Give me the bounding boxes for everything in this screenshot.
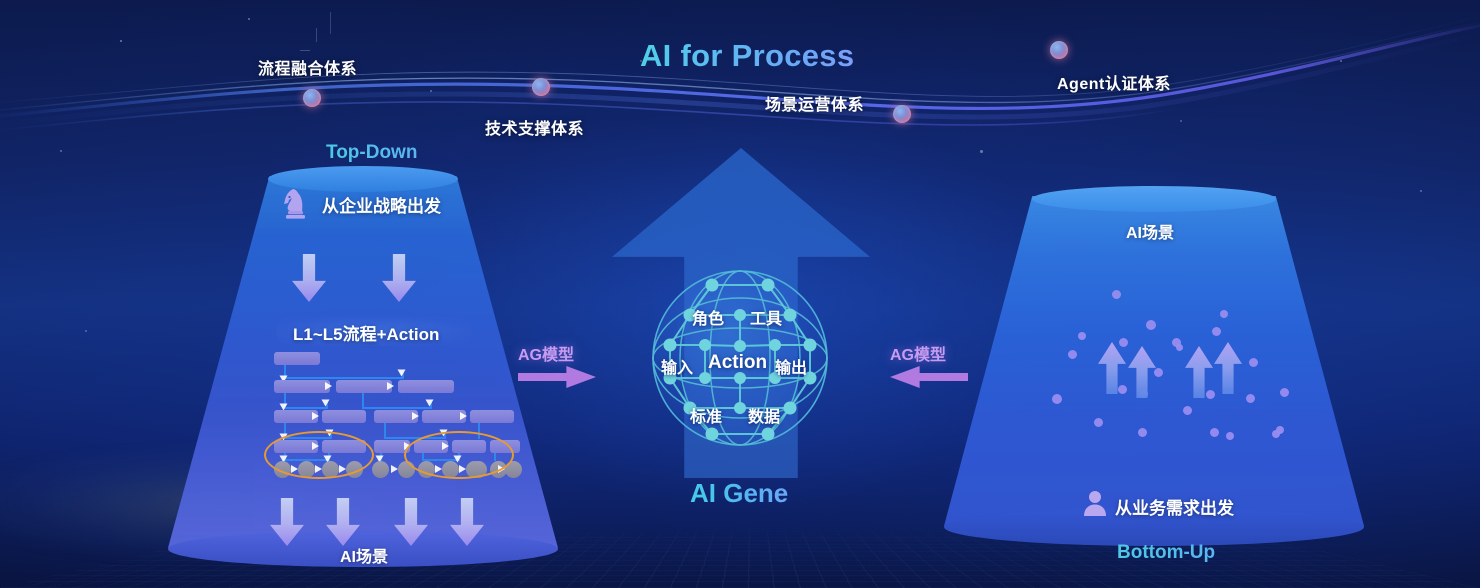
particle-dot	[1246, 394, 1255, 403]
process-box	[274, 352, 320, 365]
ag-arrow-left	[890, 366, 968, 388]
highlight-ellipse-left	[264, 431, 374, 479]
process-node-circle	[372, 461, 389, 478]
particle-dot	[1176, 344, 1183, 351]
connector	[284, 377, 404, 379]
process-box	[398, 380, 454, 393]
process-box	[274, 380, 330, 393]
particle-dot	[1226, 432, 1234, 440]
process-box	[322, 410, 366, 423]
sphere-cell-output: 输出	[775, 354, 807, 378]
right-funnel-shape	[944, 196, 1364, 526]
connector-arrowhead	[426, 400, 434, 407]
box-arrowhead	[325, 382, 332, 390]
particle-dot	[1272, 430, 1280, 438]
box-arrowhead	[312, 412, 319, 420]
connector-arrowhead	[322, 400, 330, 407]
sphere-cell-standard: 标准	[690, 403, 722, 427]
particle-dot	[1206, 390, 1215, 399]
connector	[284, 407, 328, 409]
user-person-icon	[1082, 489, 1108, 517]
star-speck	[85, 330, 87, 332]
ag-model-label-left: AG模型	[518, 341, 574, 365]
sphere-cell-tool: 工具	[750, 305, 782, 329]
particle-dot	[1249, 358, 1258, 367]
particle-dot	[1154, 368, 1163, 377]
wave-node-dot-3	[893, 105, 911, 123]
sphere-cell-input: 输入	[661, 354, 693, 378]
wave-node-label-1: 流程融合体系	[258, 55, 357, 79]
particle-dot	[1146, 320, 1156, 330]
box-arrowhead	[460, 412, 467, 420]
particle-dot	[1280, 388, 1289, 397]
particle-dot	[1220, 310, 1228, 318]
page-title: AI for Process	[640, 38, 854, 74]
wave-node-label-4: Agent认证体系	[1057, 70, 1171, 94]
particle-dot	[1118, 385, 1127, 394]
particle-dot	[1210, 428, 1219, 437]
particle-dot	[1138, 428, 1147, 437]
star-speck	[1420, 190, 1422, 192]
particle-dot	[1119, 338, 1128, 347]
label-bottom-up: Bottom-Up	[1117, 542, 1215, 564]
particle-dot	[1068, 350, 1077, 359]
box-arrowhead	[412, 412, 419, 420]
node-arrowhead	[391, 465, 398, 473]
wave-node-label-3: 场景运营体系	[765, 91, 864, 115]
particle-dot	[1183, 406, 1192, 415]
wave-node-label-2: 技术支撑体系	[485, 115, 584, 139]
particle-dot	[1052, 394, 1062, 404]
left-funnel-top-text: 从企业战略出发	[322, 192, 441, 217]
particle-dot	[1112, 290, 1121, 299]
connector	[362, 407, 432, 409]
particle-dot	[1094, 418, 1103, 427]
infographic-canvas: 流程融合体系 技术支撑体系 场景运营体系 Agent认证体系 AI for Pr…	[0, 0, 1480, 588]
highlight-ellipse-right	[404, 431, 514, 479]
sphere-cell-data: 数据	[748, 403, 780, 427]
left-funnel-mid-text: L1~L5流程+Action	[293, 320, 439, 345]
connector-arrowhead	[398, 370, 406, 377]
box-arrowhead	[387, 382, 394, 390]
left-funnel-bottom-text: AI场景	[340, 543, 388, 567]
sphere-cell-action: Action	[708, 352, 767, 374]
ag-arrow-right	[518, 366, 596, 388]
process-box	[336, 380, 392, 393]
ag-model-label-right: AG模型	[890, 341, 946, 365]
chess-knight-icon	[280, 186, 310, 220]
wave-node-dot-4	[1050, 41, 1068, 59]
ai-gene-label: AI Gene	[690, 478, 788, 509]
right-funnel-top-ellipse	[1032, 186, 1276, 212]
label-top-down: Top-Down	[326, 142, 417, 164]
sphere-cell-role: 角色	[692, 305, 724, 329]
process-box	[470, 410, 514, 423]
particle-dot	[1078, 332, 1086, 340]
decorative-wave-lines	[0, 0, 1480, 160]
wave-node-dot-2	[532, 78, 550, 96]
right-funnel-top-text: AI场景	[1126, 219, 1174, 243]
right-funnel-bottom-text: 从业务需求出发	[1115, 494, 1234, 519]
wave-node-dot-1	[303, 89, 321, 107]
particle-dot	[1212, 327, 1221, 336]
